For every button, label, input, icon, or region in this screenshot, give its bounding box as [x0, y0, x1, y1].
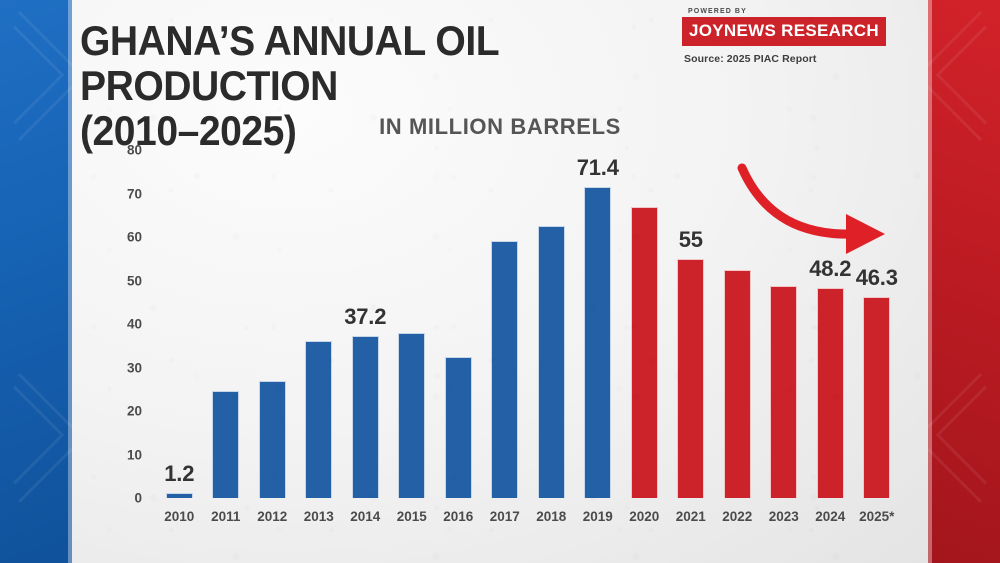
brand-name-badge: JOYNEWS RESEARCH — [682, 17, 886, 46]
star-emblem-left — [0, 207, 72, 357]
panel-edge-right — [928, 0, 932, 563]
bar-2014[interactable] — [352, 336, 379, 498]
bar-value-label: 1.2 — [164, 461, 194, 487]
y-axis-tick: 80 — [104, 143, 142, 158]
bar-column[interactable]: 2012 — [249, 150, 296, 498]
y-axis-tick: 40 — [104, 317, 142, 332]
x-axis-tick: 2018 — [536, 509, 566, 524]
bar-column[interactable]: 2022 — [714, 150, 761, 498]
bar-value-label: 48.2 — [809, 256, 851, 282]
y-axis-tick: 20 — [104, 404, 142, 419]
y-axis-tick: 0 — [104, 491, 142, 506]
bar-2010[interactable] — [166, 493, 193, 498]
bar-column[interactable]: 1.22010 — [156, 150, 203, 498]
bar-2024[interactable] — [817, 288, 844, 498]
bar-series-group: 1.2201020112012201337.220142015201620172… — [156, 150, 900, 498]
x-axis-tick: 2021 — [676, 509, 706, 524]
bar-column[interactable]: 2023 — [761, 150, 808, 498]
decorative-panel-left — [0, 0, 72, 563]
bar-column[interactable]: 2018 — [528, 150, 575, 498]
logo-row: JOYNEWS RESEARCH — [682, 17, 872, 46]
bar-2023[interactable] — [770, 286, 797, 498]
source-label: Source: 2025 PIAC Report — [684, 53, 872, 65]
star-emblem-right — [928, 207, 1000, 357]
x-axis-tick: 2019 — [583, 509, 613, 524]
x-axis-tick: 2024 — [815, 509, 845, 524]
bar-column[interactable]: 2015 — [389, 150, 436, 498]
x-axis-tick: 2011 — [211, 509, 240, 524]
x-axis-tick: 2010 — [164, 509, 194, 524]
y-axis-tick: 10 — [104, 447, 142, 462]
x-axis-tick: 2013 — [304, 509, 334, 524]
bar-column[interactable]: 552021 — [668, 150, 715, 498]
bar-2020[interactable] — [631, 207, 658, 498]
y-axis-tick: 30 — [104, 360, 142, 375]
bar-2012[interactable] — [259, 381, 286, 498]
bar-value-label: 46.3 — [856, 265, 898, 291]
bar-column[interactable]: 37.22014 — [342, 150, 389, 498]
x-axis-tick: 2014 — [350, 509, 380, 524]
chart-subtitle: IN MILLION BARRELS — [72, 114, 928, 140]
bar-column[interactable]: 46.32025* — [854, 150, 901, 498]
y-axis-tick: 50 — [104, 273, 142, 288]
decorative-panel-right — [928, 0, 1000, 563]
bar-column[interactable]: 2020 — [621, 150, 668, 498]
title-line-1: Ghana’s Annual Oil Production — [80, 17, 498, 109]
bar-2022[interactable] — [724, 270, 751, 498]
bar-2019[interactable] — [584, 187, 611, 498]
x-axis-tick: 2020 — [629, 509, 659, 524]
x-axis-tick: 2012 — [257, 509, 287, 524]
x-axis-tick: 2023 — [769, 509, 799, 524]
bar-2021[interactable] — [677, 259, 704, 498]
bar-column[interactable]: 2016 — [435, 150, 482, 498]
bar-2013[interactable] — [305, 341, 332, 498]
bar-2018[interactable] — [538, 226, 565, 498]
bar-column[interactable]: 2011 — [203, 150, 250, 498]
bar-value-label: 55 — [679, 227, 703, 253]
bar-2015[interactable] — [398, 333, 425, 498]
bar-column[interactable]: 2013 — [296, 150, 343, 498]
x-axis-tick: 2016 — [443, 509, 473, 524]
bar-2016[interactable] — [445, 357, 472, 498]
bar-column[interactable]: 48.22024 — [807, 150, 854, 498]
x-axis-tick: 2025* — [859, 509, 894, 524]
infographic-canvas: Ghana’s Annual Oil Production (2010–2025… — [0, 0, 1000, 563]
x-axis-tick: 2017 — [490, 509, 520, 524]
powered-by-label: POWERED BY — [688, 8, 872, 15]
bar-column[interactable]: 71.42019 — [575, 150, 622, 498]
y-axis-tick: 70 — [104, 186, 142, 201]
x-axis-tick: 2022 — [722, 509, 752, 524]
bar-2025[interactable] — [863, 297, 890, 498]
chart-board: Ghana’s Annual Oil Production (2010–2025… — [72, 0, 928, 563]
bar-chart-plot: 80706050403020100 1.2201020112012201337.… — [104, 150, 904, 540]
bar-2011[interactable] — [212, 391, 239, 498]
x-axis-tick: 2015 — [397, 509, 427, 524]
bar-value-label: 71.4 — [577, 155, 619, 181]
brand-logo-block: POWERED BY JOYNEWS RESEARCH Source: 2025… — [682, 8, 872, 65]
bar-2017[interactable] — [491, 241, 518, 498]
bar-value-label: 37.2 — [344, 304, 386, 330]
y-axis-tick: 60 — [104, 230, 142, 245]
bar-column[interactable]: 2017 — [482, 150, 529, 498]
